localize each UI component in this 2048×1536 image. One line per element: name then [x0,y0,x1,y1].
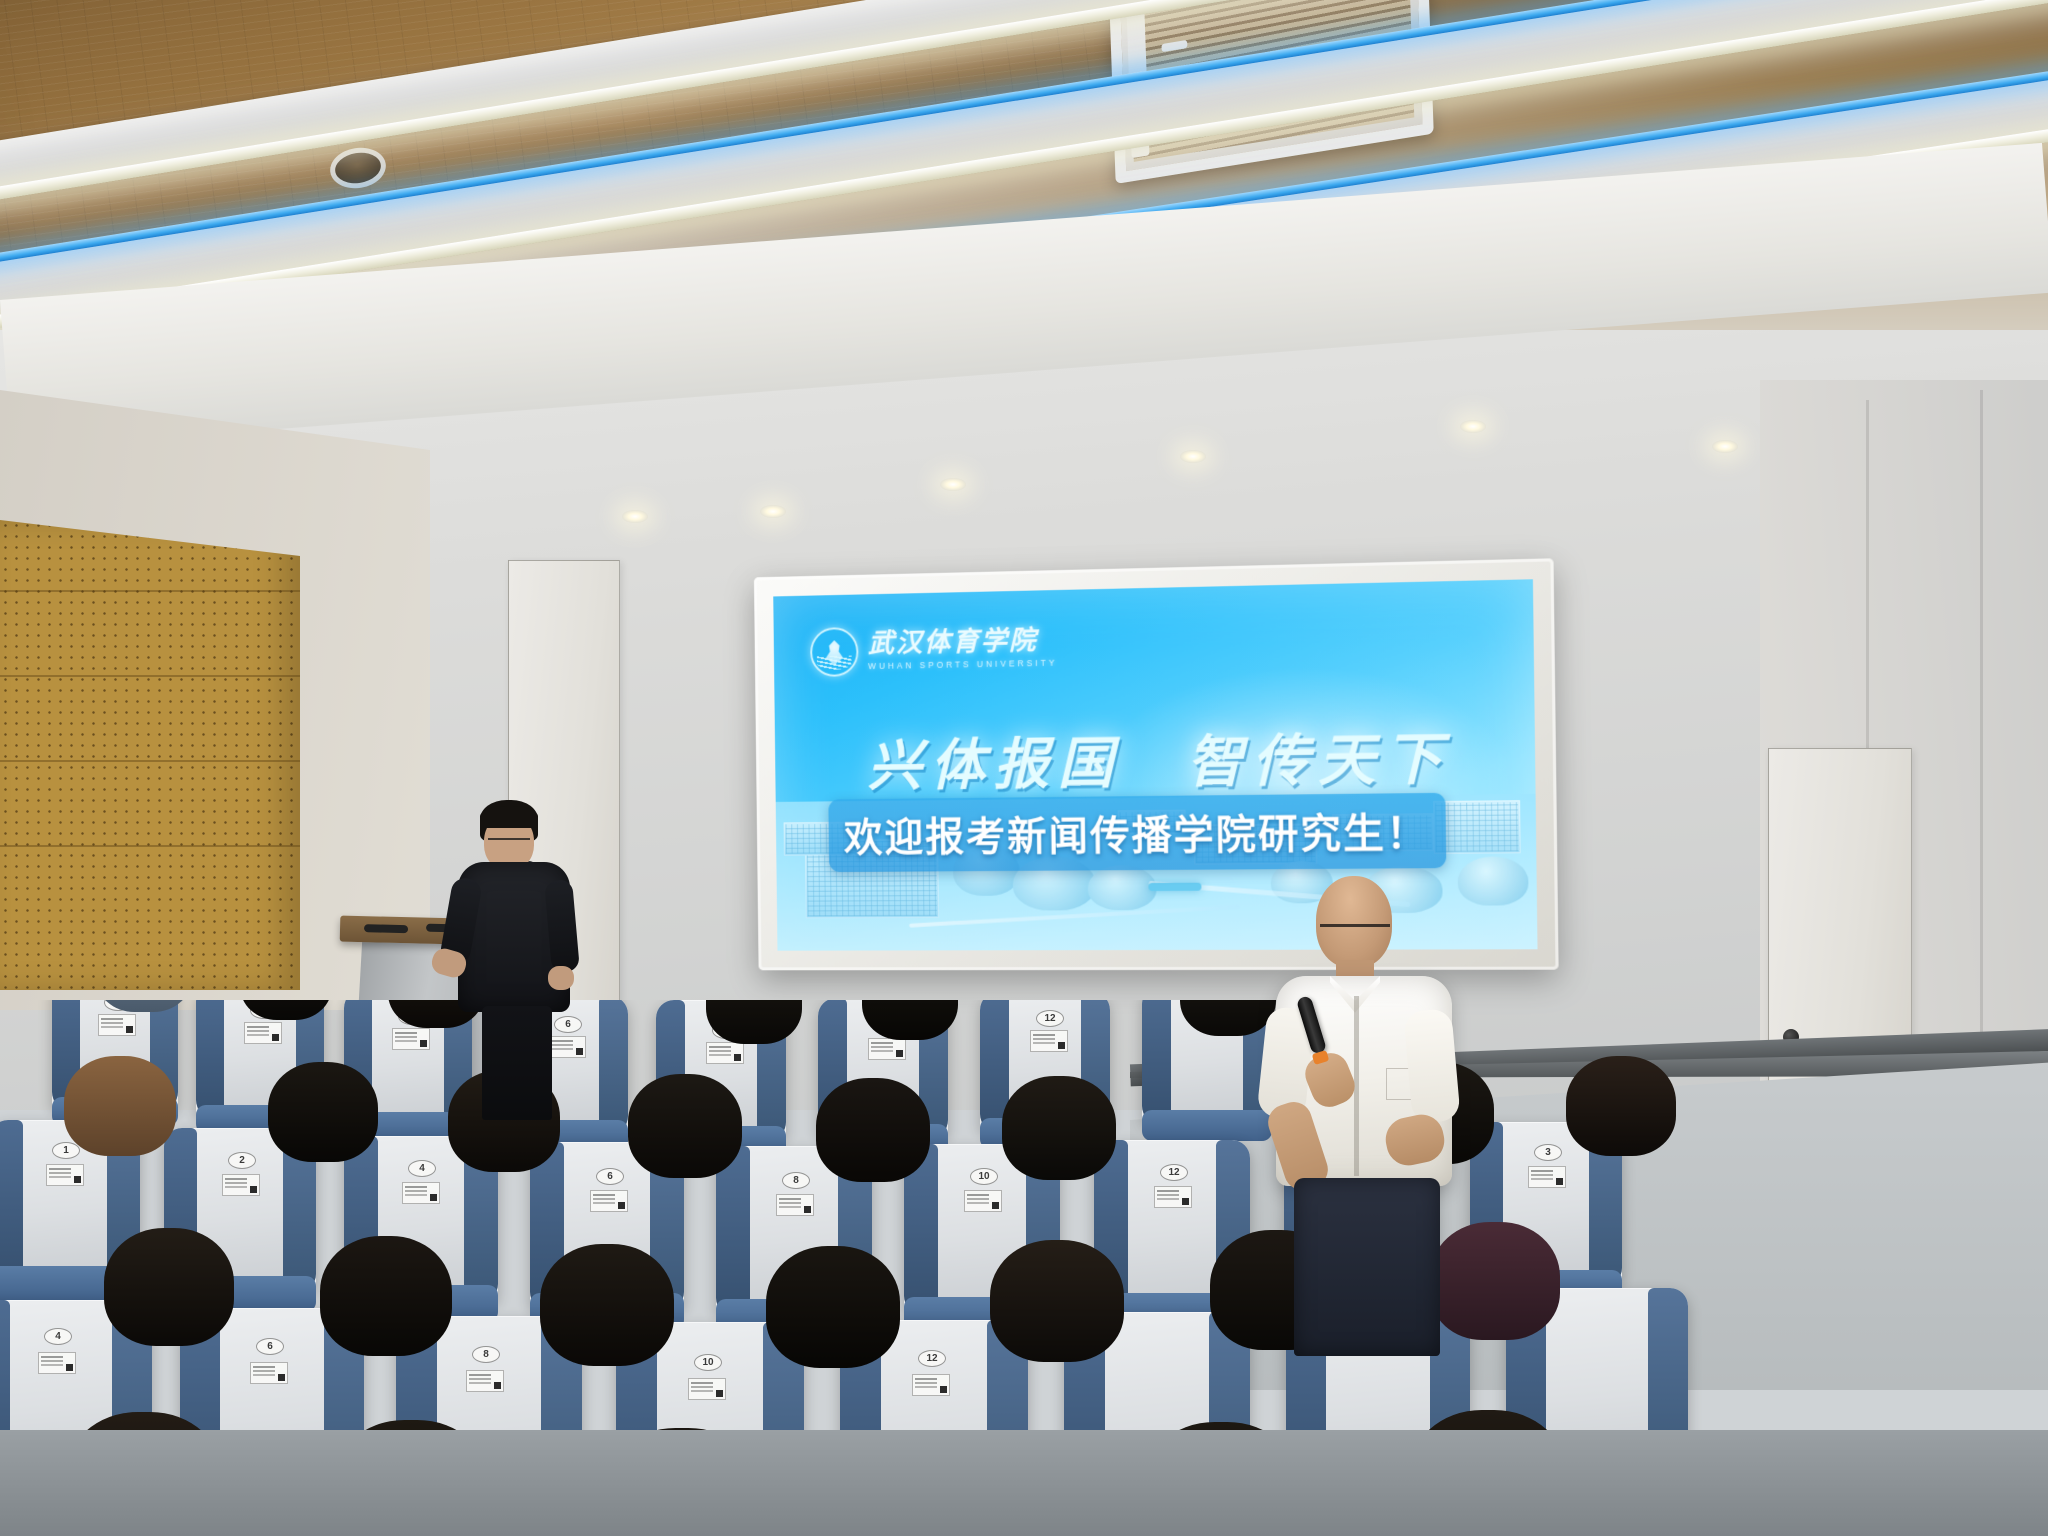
audience-person [706,1000,802,1044]
seat-number: 12 [1036,1010,1064,1027]
university-name-en: WUHAN SPORTS UNIVERSITY [868,658,1057,671]
downlight-icon [1180,450,1206,463]
seat-number: 4 [408,1160,436,1177]
audience-person [628,1074,742,1178]
seat-label-plate [964,1190,1002,1212]
seat-label-plate [392,1028,430,1050]
lecture-hall-photo: 武汉体育学院 WUHAN SPORTS UNIVERSITY 兴体报国 智传天下… [0,0,2048,1536]
seat-label-plate [590,1190,628,1212]
seat-number: 6 [596,1168,624,1185]
seat-number: 6 [256,1338,284,1355]
audience-person [240,1000,332,1020]
seat-label-plate [1528,1166,1566,1188]
seat-label-plate [46,1164,84,1186]
audience-person [540,1244,674,1366]
seat-number: 12 [918,1350,946,1367]
downlight-icon [940,478,966,491]
audience-person [64,1056,176,1156]
seat-number: 10 [970,1168,998,1185]
wall-seam [1980,390,1983,1090]
seat-number: 12 [1160,1164,1188,1181]
seat-label-plate [98,1014,136,1036]
audience-person [320,1236,452,1356]
podium-speaker [452,800,582,1120]
seat-number: 4 [44,1328,72,1345]
audience-person [1002,1076,1116,1180]
audience-person [268,1062,378,1162]
audience-person [766,1246,900,1368]
seat-label-plate [1030,1030,1068,1052]
seat-label-plate [776,1194,814,1216]
downlight-icon [1460,420,1486,433]
eyeglasses-icon [488,838,530,844]
downlight-icon [1712,440,1738,453]
seat-label-plate [912,1374,950,1396]
slide-banner-text: 欢迎报考新闻传播学院研究生！ [844,810,1430,861]
eyeglasses-icon [1320,924,1390,931]
seat-label-plate [38,1352,76,1374]
seat-label-plate [222,1174,260,1196]
seat-label-plate [1154,1186,1192,1208]
seat-label-plate [688,1378,726,1400]
seat-label-plate [244,1022,282,1044]
university-logo: 武汉体育学院 WUHAN SPORTS UNIVERSITY [810,622,1058,676]
seat-number: 10 [694,1354,722,1371]
seat-label-plate [402,1182,440,1204]
seat-label-plate [706,1042,744,1064]
university-seal-icon [810,627,859,677]
acoustic-panel [0,520,300,990]
microphone-icon [364,924,408,933]
audience-person [104,1228,234,1346]
audience-person [1566,1056,1676,1156]
slide-banner: 欢迎报考新闻传播学院研究生！ [828,793,1446,872]
standing-speaker [1268,876,1468,1356]
seat-number: 8 [782,1172,810,1189]
audience-person [816,1078,930,1182]
audience-person [1180,1000,1276,1036]
audience-person [862,1000,958,1040]
audience-person [990,1240,1124,1362]
downlight-icon [760,505,786,518]
audience-person [96,1000,192,1012]
slide-slogan: 兴体报国 智传天下 [833,713,1488,802]
university-name-cn: 武汉体育学院 [868,627,1058,657]
seat-number: 8 [472,1346,500,1363]
seat-label-plate [466,1370,504,1392]
seat-label-plate [250,1362,288,1384]
floor [0,1430,2048,1536]
seat-number: 3 [1534,1144,1562,1161]
seat-number: 2 [228,1152,256,1169]
seat-label-plate [868,1038,906,1060]
downlight-icon [622,510,648,523]
